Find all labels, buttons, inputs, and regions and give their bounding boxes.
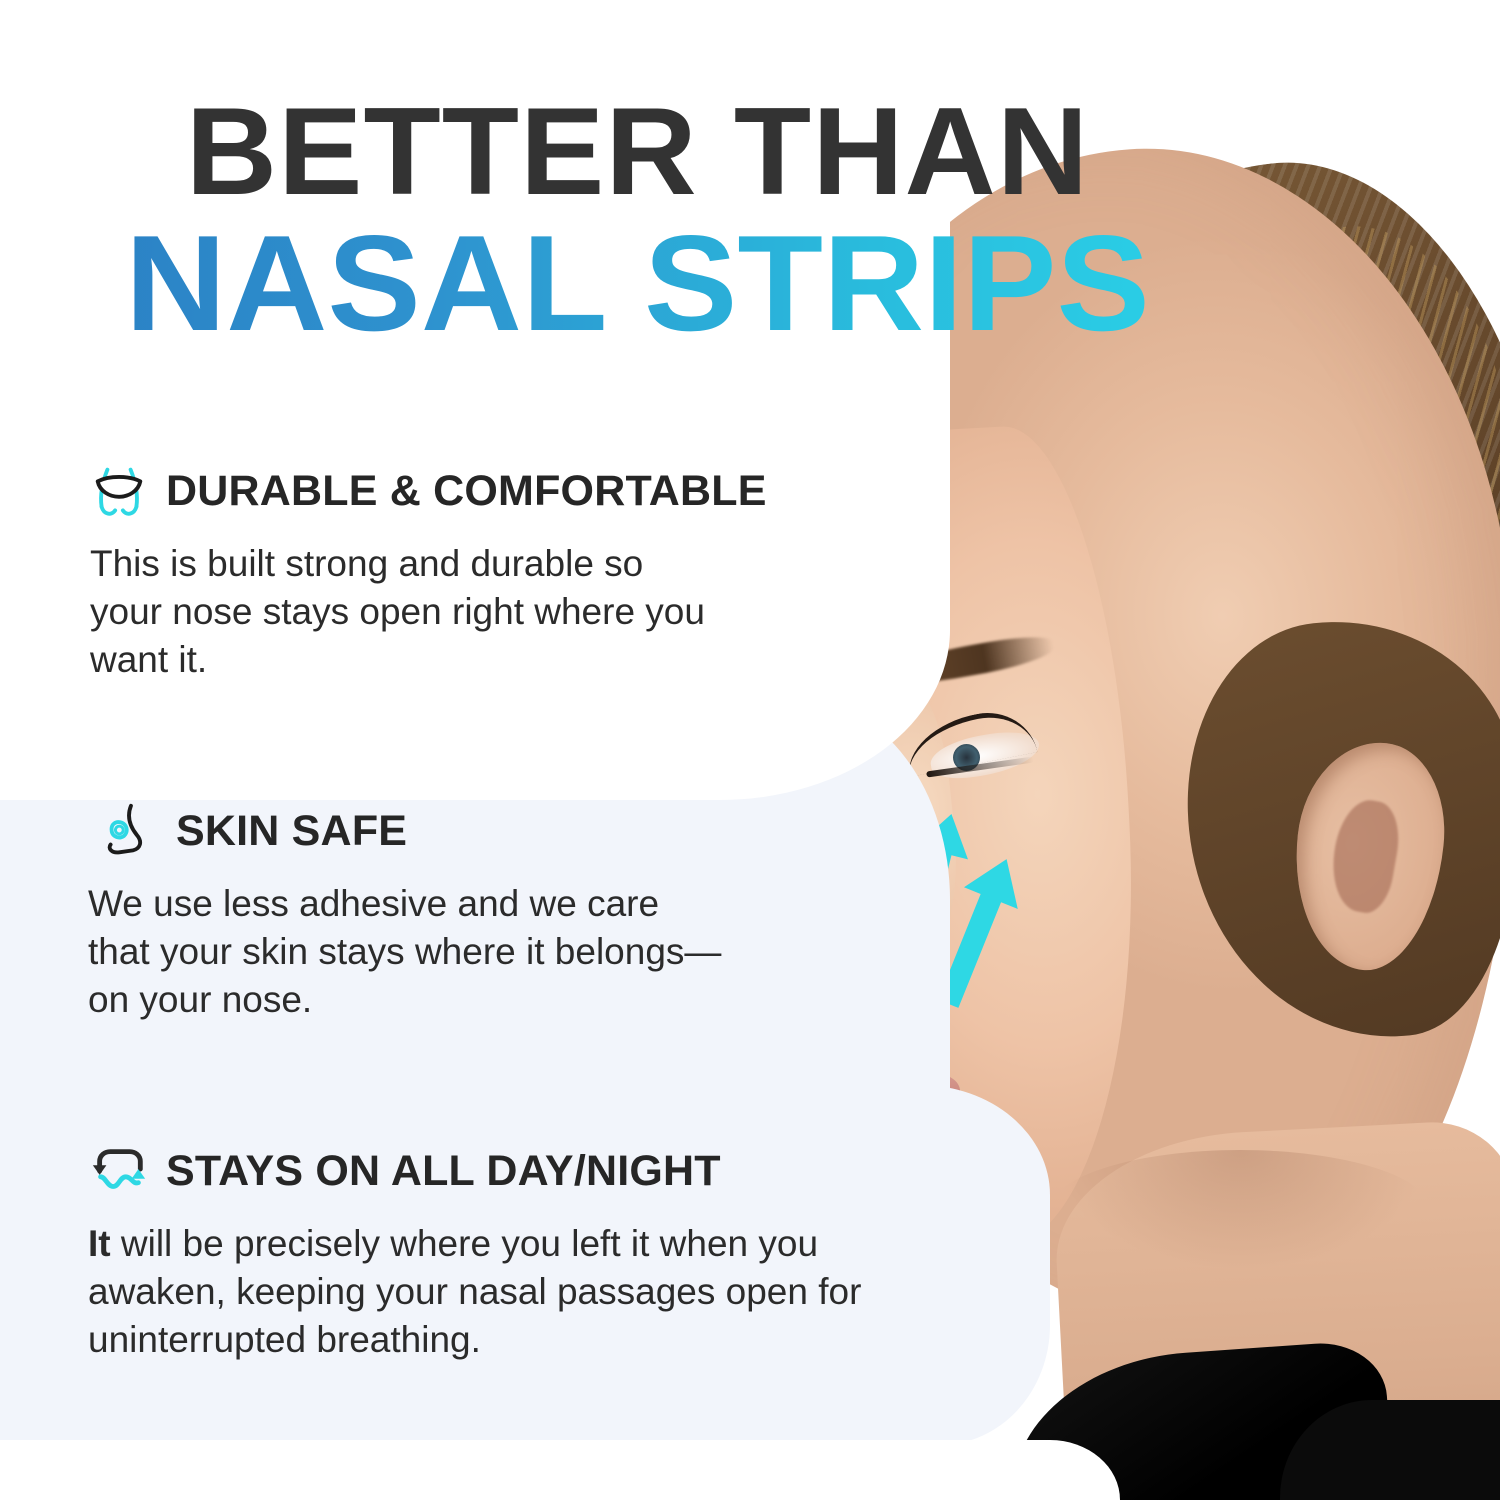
feature-3-header: STAYS ON ALL DAY/NIGHT [88,1140,948,1202]
feature-3-body-lead: It [88,1223,111,1264]
feature-3-body-rest: will be precisely where you left it when… [88,1223,861,1360]
feature-1-body: This is built strong and durable so your… [90,540,710,684]
feature-durable-comfortable: DURABLE & COMFORTABLE This is built stro… [88,460,767,684]
nose-with-strip-icon [88,460,150,522]
headline: BETTER THAN NASAL STRIPS [0,92,1275,350]
day-night-cycle-arrows-icon [88,1140,150,1202]
infographic-page: BETTER THAN NASAL STRIPS DURABLE & COMFO… [0,0,1500,1500]
feature-3-body: It will be precisely where you left it w… [88,1220,948,1364]
feature-1-header: DURABLE & COMFORTABLE [88,460,767,522]
feature-1-title: DURABLE & COMFORTABLE [166,467,767,516]
nose-profile-skin-patch-icon [98,800,160,862]
feature-stays-on-all-day-night: STAYS ON ALL DAY/NIGHT It will be precis… [88,1140,948,1364]
headline-line-2: NASAL STRIPS [0,218,1294,350]
headline-line-1: BETTER THAN [0,92,1288,212]
feature-3-title: STAYS ON ALL DAY/NIGHT [166,1147,721,1196]
feature-2-title: SKIN SAFE [176,807,407,856]
feature-2-header: SKIN SAFE [98,800,728,862]
feature-skin-safe: SKIN SAFE We use less adhesive and we ca… [88,800,728,1024]
feature-2-body: We use less adhesive and we care that yo… [88,880,728,1024]
